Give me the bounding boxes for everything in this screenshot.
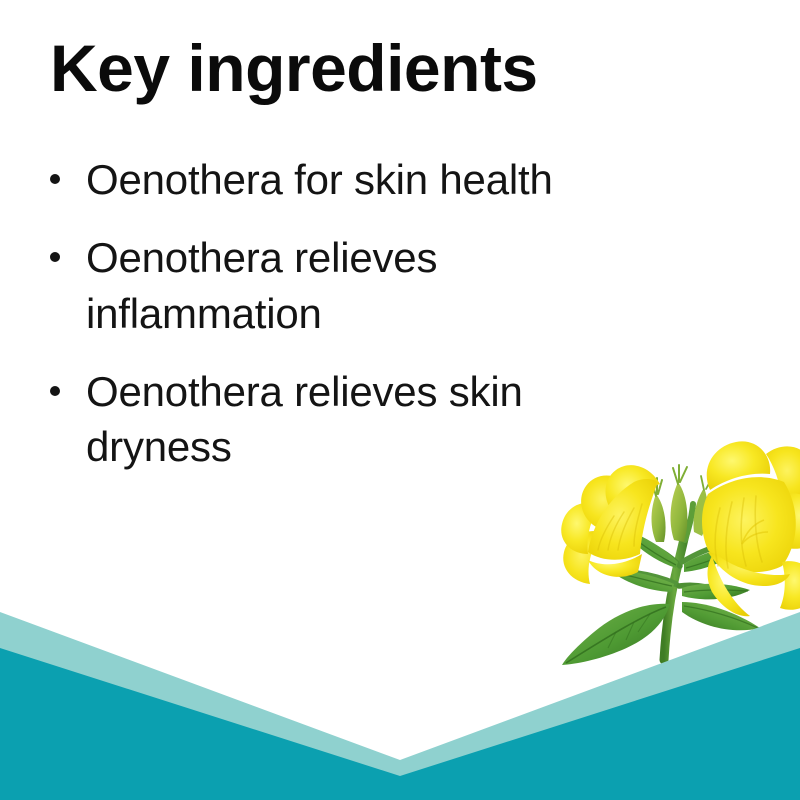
key-ingredients-list: Oenothera for skin health Oenothera reli… xyxy=(44,152,604,475)
page-title: Key ingredients xyxy=(50,34,750,103)
bullet-dot-icon xyxy=(50,386,60,396)
slide-canvas: Key ingredients Oenothera for skin healt… xyxy=(0,0,800,800)
bullet-dot-icon xyxy=(50,252,60,262)
left-flower-bloom xyxy=(561,465,660,584)
list-item-label: Oenothera for skin health xyxy=(86,156,553,203)
list-item-label: Oenothera relieves inflammation xyxy=(86,234,437,337)
chevron-decoration xyxy=(0,600,800,800)
list-item: Oenothera for skin health xyxy=(44,152,604,208)
list-item: Oenothera relieves inflammation xyxy=(44,230,604,342)
list-item: Oenothera relieves skin dryness xyxy=(44,364,604,476)
bullet-dot-icon xyxy=(50,174,60,184)
list-item-label: Oenothera relieves skin dryness xyxy=(86,368,523,471)
